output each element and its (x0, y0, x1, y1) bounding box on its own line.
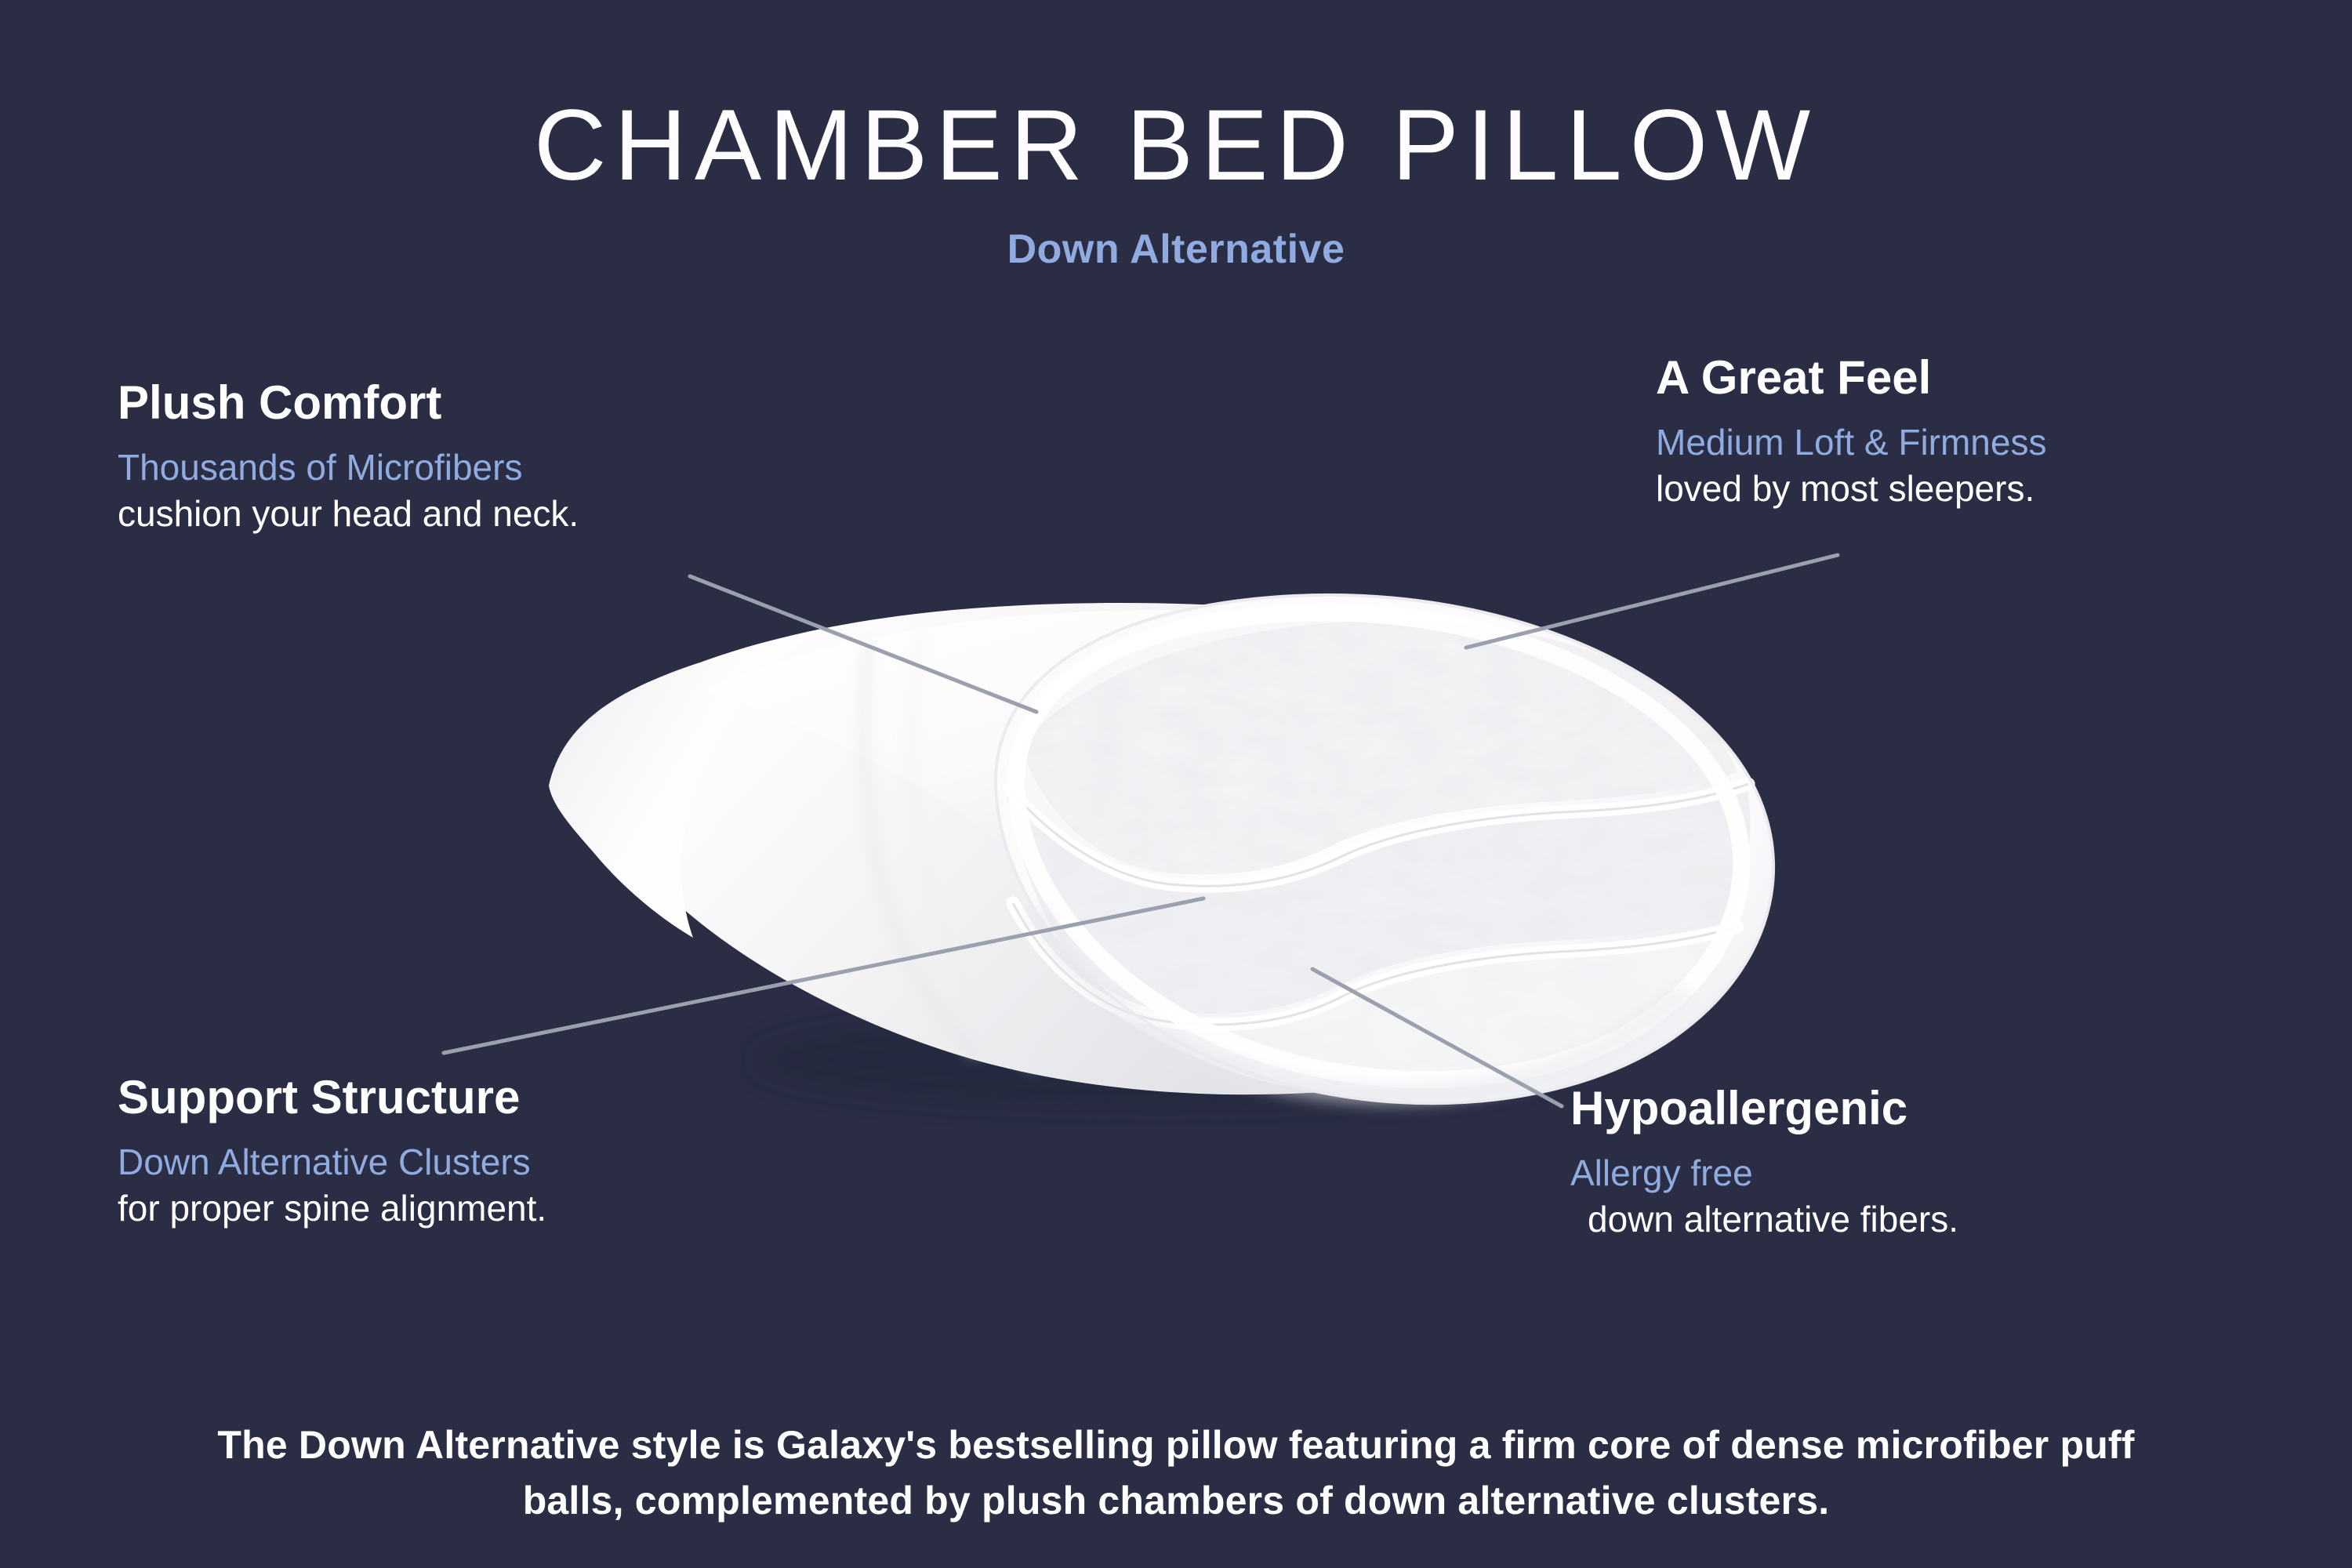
footer-line-2: balls, complemented by plush chambers of… (71, 1473, 2281, 1529)
chamber-firm-core (988, 768, 1780, 1035)
page-title: CHAMBER BED PILLOW (0, 96, 2352, 196)
footer-line-1: The Down Alternative style is Galaxy's b… (71, 1417, 2281, 1473)
leader-line-hypoallergenic (1312, 969, 1562, 1106)
feature-accent: Medium Loft & Firmness (1656, 419, 2046, 466)
feature-title: Hypoallergenic (1570, 1083, 1958, 1133)
pillow-body (549, 603, 1396, 1094)
feature-support-structure: Support Structure Down Alternative Clust… (118, 1073, 546, 1232)
feature-plush-comfort: Plush Comfort Thousands of Microfibers c… (118, 378, 579, 537)
feature-accent: Down Alternative Clusters (118, 1139, 546, 1185)
feature-body: down alternative fibers. (1570, 1196, 1958, 1243)
feature-title: Plush Comfort (118, 378, 579, 427)
chamber-upper (988, 596, 1780, 909)
chamber-baffle-upper (1010, 784, 1748, 886)
chamber-baffle-lower (1013, 903, 1737, 1025)
pillow-cut-rim (996, 595, 1773, 1103)
feature-hypoallergenic: Hypoallergenic Allergy free down alterna… (1570, 1083, 1958, 1243)
pillow-fill-cavity (1016, 612, 1741, 1080)
header: CHAMBER BED PILLOW Down Alternative (0, 0, 2352, 273)
feature-body: loved by most sleepers. (1656, 466, 2046, 512)
pillow-left-tip (549, 637, 808, 938)
pillow-shadow (753, 1014, 1568, 1105)
leader-line-support-structure (444, 898, 1203, 1053)
feature-title: A Great Feel (1656, 353, 2046, 402)
feature-a-great-feel: A Great Feel Medium Loft & Firmness love… (1656, 353, 2046, 512)
feature-title: Support Structure (118, 1073, 546, 1122)
pillow-rim-lip (1016, 612, 1741, 1080)
feature-body: cushion your head and neck. (118, 491, 579, 537)
page-subtitle: Down Alternative (0, 226, 2352, 273)
pillow-rim-shade (1035, 909, 1686, 1094)
feature-body: for proper spine alignment. (118, 1185, 546, 1232)
leader-line-a-great-feel (1466, 555, 1838, 648)
pillow-seam-crease (864, 641, 978, 1055)
leader-line-plush-comfort (690, 576, 1036, 712)
feature-accent: Allergy free (1570, 1150, 1958, 1196)
pillow-top-gusset (706, 610, 1411, 855)
pillow-seam-crease-2 (912, 627, 1036, 1069)
footer-description: The Down Alternative style is Galaxy's b… (0, 1417, 2352, 1529)
feature-accent: Thousands of Microfibers (118, 445, 579, 491)
